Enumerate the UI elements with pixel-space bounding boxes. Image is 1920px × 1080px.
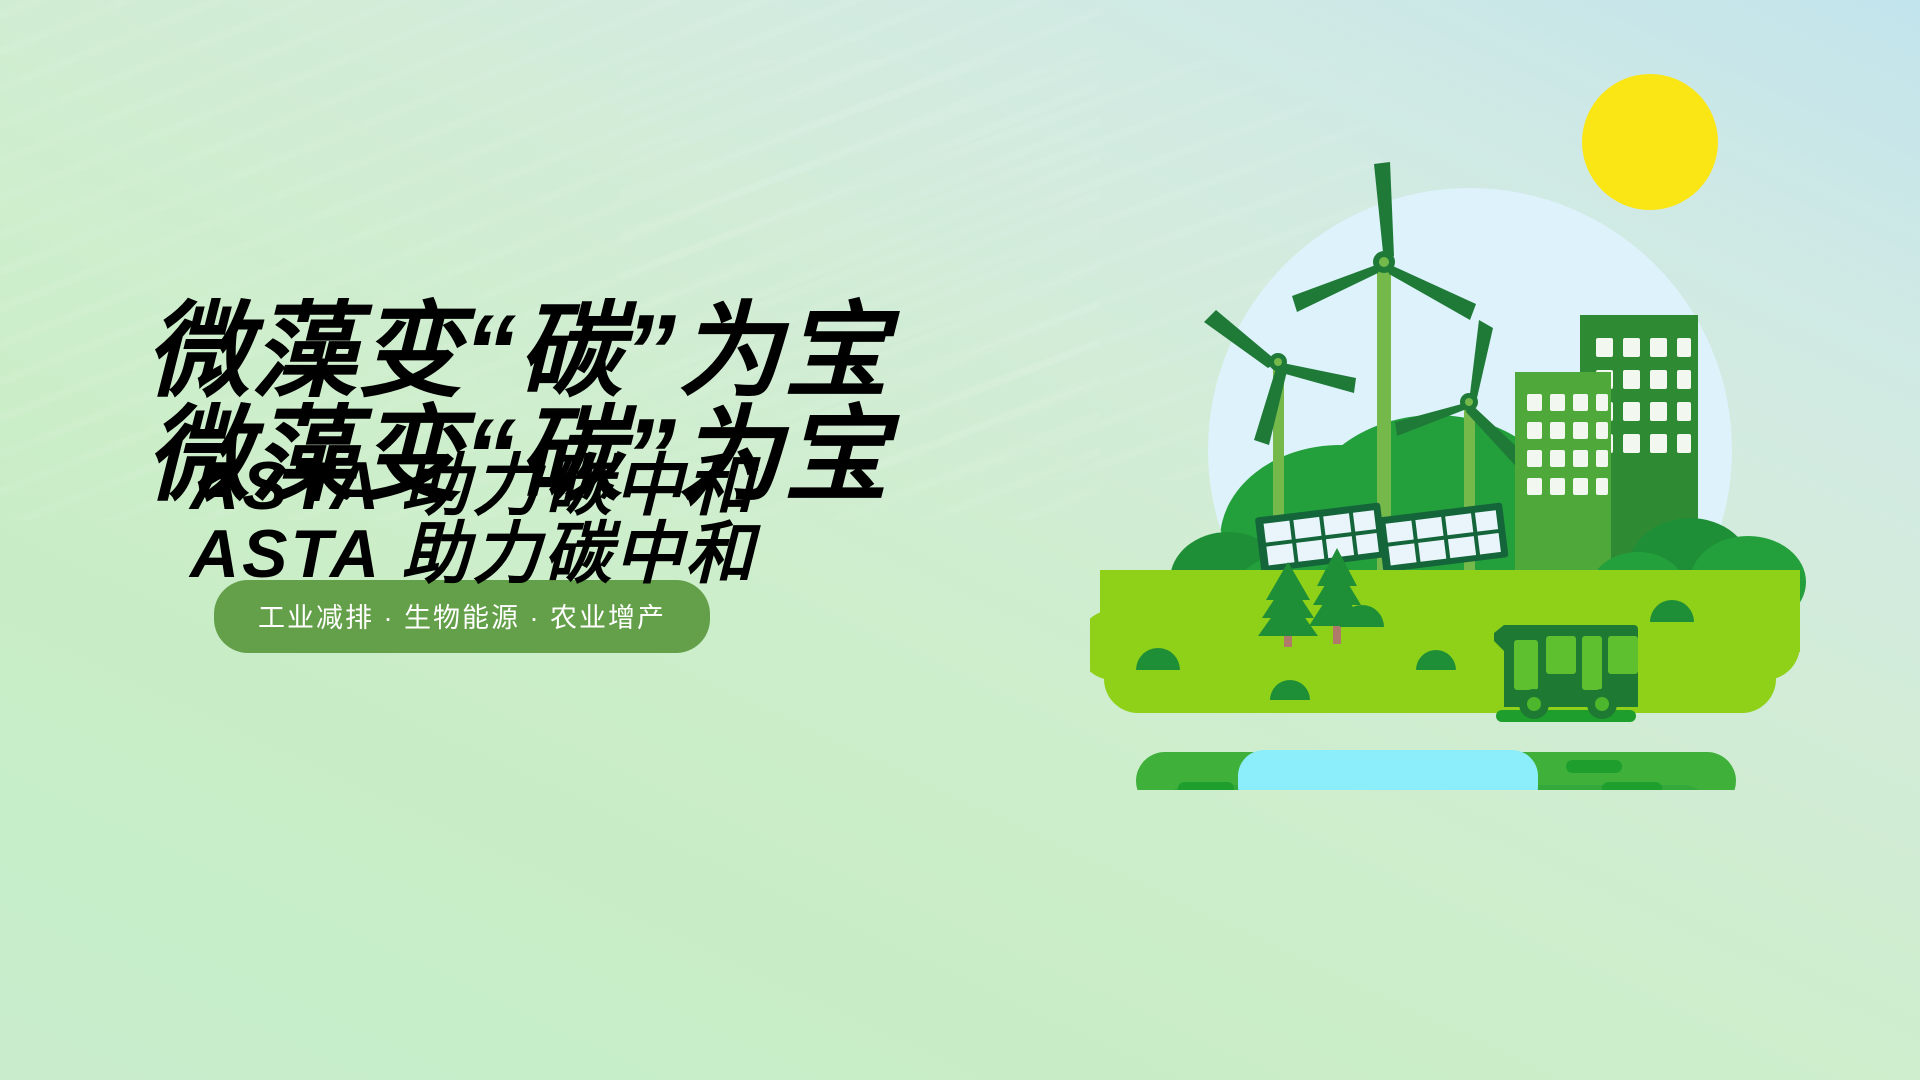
ground-top bbox=[1090, 570, 1800, 713]
eco-banner: 微藻变“碳”为宝 微藻变“碳”为宝 ASTA 助力碳中和 ASTA 助力碳中和 … bbox=[0, 0, 1920, 1080]
eco-city-illustration bbox=[1090, 70, 1810, 790]
subline-wrap: ASTA 助力碳中和 ASTA 助力碳中和 bbox=[146, 452, 906, 538]
lake bbox=[1238, 750, 1538, 790]
page-title-halo: 微藻变“碳”为宝 bbox=[146, 300, 906, 404]
page-subtitle: ASTA 助力碳中和 bbox=[190, 520, 906, 588]
copy-block: 微藻变“碳”为宝 微藻变“碳”为宝 ASTA 助力碳中和 ASTA 助力碳中和 … bbox=[146, 300, 906, 653]
headline-wrap: 微藻变“碳”为宝 微藻变“碳”为宝 bbox=[146, 300, 906, 418]
page-subtitle-halo: ASTA 助力碳中和 bbox=[190, 452, 906, 520]
sun-icon bbox=[1582, 74, 1718, 210]
